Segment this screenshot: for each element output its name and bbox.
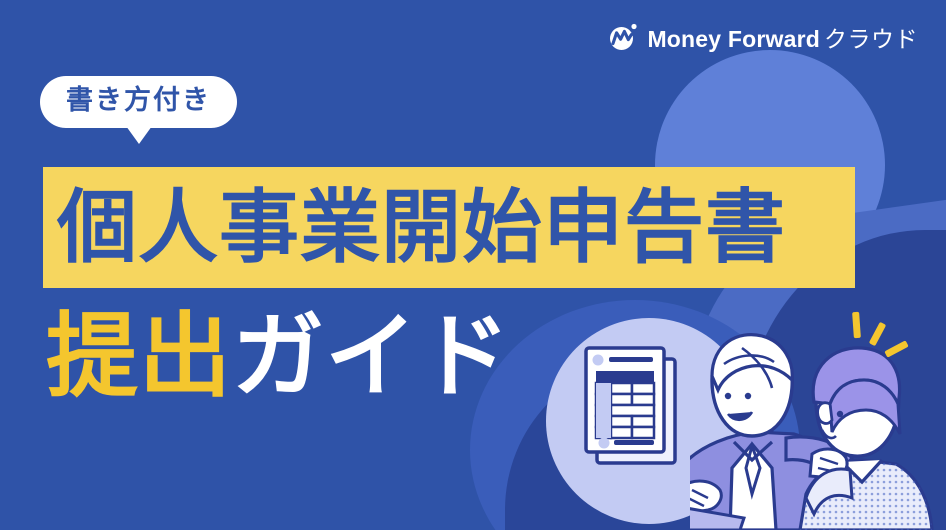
- title-highlight-band: 個人事業開始申告書: [43, 167, 855, 288]
- page-title: 個人事業開始申告書: [43, 188, 786, 268]
- brand-name: Money Forward: [647, 26, 820, 52]
- brand-logo-text: Money Forwardクラウド: [647, 20, 918, 54]
- badge-label: 書き方付き: [40, 76, 237, 128]
- promo-banner: Money Forwardクラウド 書き方付き 個人事業開始申告書 提出ガイド: [0, 0, 946, 530]
- page-subtitle: 提出ガイド: [46, 300, 511, 415]
- money-forward-logo-mark: [608, 22, 638, 52]
- sparkle-line-1: [852, 312, 861, 338]
- tax-form-document-icon: [583, 345, 679, 470]
- sparkle-lines-icon: [845, 308, 915, 364]
- brand-logo: Money Forwardクラウド: [608, 20, 918, 54]
- sparkle-line-3: [884, 340, 908, 357]
- badge-pointer-tail: [126, 126, 152, 144]
- subtitle-accent-text: 提出: [46, 306, 232, 408]
- brand-service-suffix: クラウド: [820, 26, 918, 52]
- badge: 書き方付き: [40, 76, 237, 128]
- subtitle-plain-text: ガイド: [232, 306, 511, 408]
- sparkle-line-2: [869, 322, 886, 346]
